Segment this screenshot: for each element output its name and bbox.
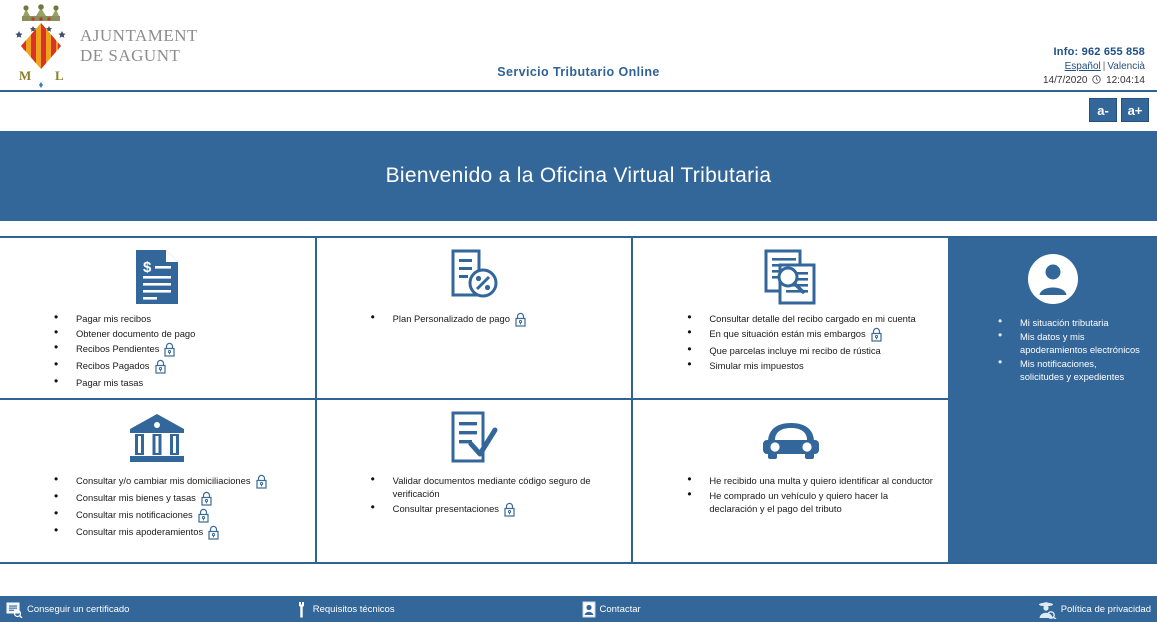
list-item[interactable]: Consultar y/o cambiar mis domiciliacione… xyxy=(54,474,309,489)
card-domiciliaciones[interactable]: Consultar y/o cambiar mis domiciliacione… xyxy=(0,400,315,562)
list-item[interactable]: Consultar mis notificaciones xyxy=(54,508,309,523)
list-item[interactable]: Plan Personalizado de pago xyxy=(371,312,626,327)
footer-link-requisitos[interactable]: Requisitos técnicos xyxy=(288,596,576,622)
language-link-espanol[interactable]: Español xyxy=(1065,61,1101,72)
welcome-heading: Bienvenido a la Oficina Virtual Tributar… xyxy=(386,164,772,188)
list-item-label: He recibido una multa y quiero identific… xyxy=(709,475,933,486)
lock-icon xyxy=(870,327,883,342)
list-item[interactable]: Pagar mis recibos xyxy=(54,312,309,325)
card-item-list: Plan Personalizado de pago xyxy=(323,312,626,329)
card-vehiculos[interactable]: He recibido una multa y quiero identific… xyxy=(631,400,948,562)
font-size-controls: a- a+ xyxy=(1089,98,1149,122)
list-item-label: Consultar mis apoderamientos xyxy=(76,526,203,537)
list-item[interactable]: Mi situación tributaria xyxy=(998,316,1147,329)
footer-link-certificado[interactable]: Conseguir un certificado xyxy=(0,596,288,622)
card-item-list: Validar documentos mediante código segur… xyxy=(323,474,626,519)
service-card-row: Consultar y/o cambiar mis domiciliacione… xyxy=(0,400,948,562)
welcome-banner: Bienvenido a la Oficina Virtual Tributar… xyxy=(0,131,1157,221)
service-card-row: $ Pagar mis recibos Obtener documento de… xyxy=(0,238,948,400)
lock-icon xyxy=(255,474,268,489)
list-item[interactable]: Recibos Pagados xyxy=(54,359,309,374)
language-switcher[interactable]: Español|Valencià xyxy=(1043,60,1145,73)
contact-card-icon xyxy=(582,601,596,618)
documents-search-icon xyxy=(762,246,820,308)
list-item[interactable]: Consultar mis bienes y tasas xyxy=(54,491,309,506)
car-icon xyxy=(760,408,822,470)
personal-area-panel: Mi situación tributaria Mis datos y mis … xyxy=(948,238,1157,562)
card-plan-pago[interactable]: Plan Personalizado de pago xyxy=(315,238,632,398)
logo-line-2: DE SAGUNT xyxy=(80,46,198,66)
services-grid: $ Pagar mis recibos Obtener documento de… xyxy=(0,236,1157,564)
clock-icon xyxy=(1092,75,1101,84)
header-datetime: 14/7/2020 12:04:14 xyxy=(1043,74,1145,87)
list-item[interactable]: Obtener documento de pago xyxy=(54,327,309,340)
personal-area-list: Mi situación tributaria Mis datos y mis … xyxy=(958,316,1147,384)
list-item[interactable]: Consultar presentaciones xyxy=(371,502,626,517)
footer-link-contactar[interactable]: Contactar xyxy=(576,596,864,622)
list-item-label: Consultar mis notificaciones xyxy=(76,509,193,520)
list-item-label: Que parcelas incluye mi recibo de rústic… xyxy=(709,345,880,356)
list-item-label: Consultar y/o cambiar mis domiciliacione… xyxy=(76,475,251,486)
list-item-label: Simular mis impuestos xyxy=(709,360,803,371)
list-item-label: Recibos Pagados xyxy=(76,360,150,371)
lock-icon xyxy=(503,502,516,517)
list-item-label: Pagar mis tasas xyxy=(76,377,143,388)
footer-link-label: Requisitos técnicos xyxy=(313,604,395,615)
logo-line-1: AJUNTAMENT xyxy=(80,26,198,46)
lock-icon xyxy=(200,491,213,506)
privacy-detective-icon xyxy=(1037,600,1057,619)
certificate-icon xyxy=(6,601,23,618)
bank-building-icon xyxy=(128,408,186,470)
footer-link-label: Conseguir un certificado xyxy=(27,604,129,615)
svg-text:$: $ xyxy=(143,259,152,276)
list-item[interactable]: Pagar mis tasas xyxy=(54,376,309,389)
page-title: Servicio Tributario Online xyxy=(0,65,1157,79)
list-item-label: Consultar mis bienes y tasas xyxy=(76,492,196,503)
list-item[interactable]: He recibido una multa y quiero identific… xyxy=(687,474,942,487)
wrench-icon xyxy=(294,601,309,618)
footer-link-privacidad[interactable]: Política de privacidad xyxy=(863,596,1157,622)
card-consultas[interactable]: Consultar detalle del recibo cargado en … xyxy=(631,238,948,398)
list-item[interactable]: Validar documentos mediante código segur… xyxy=(371,474,626,500)
lock-icon xyxy=(163,342,176,357)
info-phone: Info: 962 655 858 xyxy=(1043,46,1145,59)
lock-icon xyxy=(207,525,220,540)
current-date: 14/7/2020 xyxy=(1043,75,1088,86)
card-item-list: Consultar detalle del recibo cargado en … xyxy=(639,312,942,374)
document-check-icon xyxy=(448,408,500,470)
decrease-font-button[interactable]: a- xyxy=(1089,98,1117,122)
page-root: M L AJUNTAMENT DE SAGUNT Servicio Tribut… xyxy=(0,0,1157,622)
list-item[interactable]: Que parcelas incluye mi recibo de rústic… xyxy=(687,344,942,357)
list-item-label: Mis datos y mis apoderamientos electróni… xyxy=(1020,331,1140,355)
list-item-label: Consultar presentaciones xyxy=(393,503,499,514)
site-footer: Conseguir un certificado Requisitos técn… xyxy=(0,596,1157,622)
header-info-block: Info: 962 655 858 Español|Valencià 14/7/… xyxy=(1043,46,1145,87)
list-item[interactable]: Consultar mis apoderamientos xyxy=(54,525,309,540)
list-item-label: Mis notificaciones, solicitudes y expedi… xyxy=(1020,358,1124,382)
lock-icon xyxy=(154,359,167,374)
list-item[interactable]: Simular mis impuestos xyxy=(687,359,942,372)
user-circle-icon xyxy=(1026,248,1080,310)
lock-icon xyxy=(197,508,210,523)
document-percent-icon xyxy=(447,246,501,308)
current-time: 12:04:14 xyxy=(1106,75,1145,86)
footer-link-label: Política de privacidad xyxy=(1061,604,1151,615)
logo-text: AJUNTAMENT DE SAGUNT xyxy=(80,26,198,66)
site-header: M L AJUNTAMENT DE SAGUNT Servicio Tribut… xyxy=(0,0,1157,92)
list-item-label: He comprado un vehículo y quiero hacer l… xyxy=(709,490,888,514)
list-item[interactable]: He comprado un vehículo y quiero hacer l… xyxy=(687,489,942,515)
list-item[interactable]: Recibos Pendientes xyxy=(54,342,309,357)
list-item[interactable]: Mis datos y mis apoderamientos electróni… xyxy=(998,330,1147,356)
language-link-valencia[interactable]: Valencià xyxy=(1107,61,1145,72)
card-item-list: Consultar y/o cambiar mis domiciliacione… xyxy=(6,474,309,542)
list-item-label: Validar documentos mediante código segur… xyxy=(393,475,591,499)
footer-link-label: Contactar xyxy=(600,604,641,615)
list-item-label: Pagar mis recibos xyxy=(76,313,151,324)
list-item-label: Plan Personalizado de pago xyxy=(393,313,510,324)
list-item-label: Consultar detalle del recibo cargado en … xyxy=(709,313,915,324)
lock-icon xyxy=(514,312,527,327)
card-validacion[interactable]: Validar documentos mediante código segur… xyxy=(315,400,632,562)
list-item-label: Mi situación tributaria xyxy=(1020,317,1109,328)
increase-font-button[interactable]: a+ xyxy=(1121,98,1149,122)
list-item[interactable]: Consultar detalle del recibo cargado en … xyxy=(687,312,942,325)
list-item-label: En que situación están mis embargos xyxy=(709,328,865,339)
list-item[interactable]: Mis notificaciones, solicitudes y expedi… xyxy=(998,357,1147,383)
card-recibos[interactable]: $ Pagar mis recibos Obtener documento de… xyxy=(0,238,315,398)
list-item-label: Obtener documento de pago xyxy=(76,328,195,339)
list-item[interactable]: En que situación están mis embargos xyxy=(687,327,942,342)
card-item-list: He recibido una multa y quiero identific… xyxy=(639,474,942,517)
card-item-list: Pagar mis recibos Obtener documento de p… xyxy=(6,312,309,391)
service-cards: $ Pagar mis recibos Obtener documento de… xyxy=(0,238,948,562)
invoice-dollar-icon: $ xyxy=(132,246,182,308)
list-item-label: Recibos Pendientes xyxy=(76,343,159,354)
